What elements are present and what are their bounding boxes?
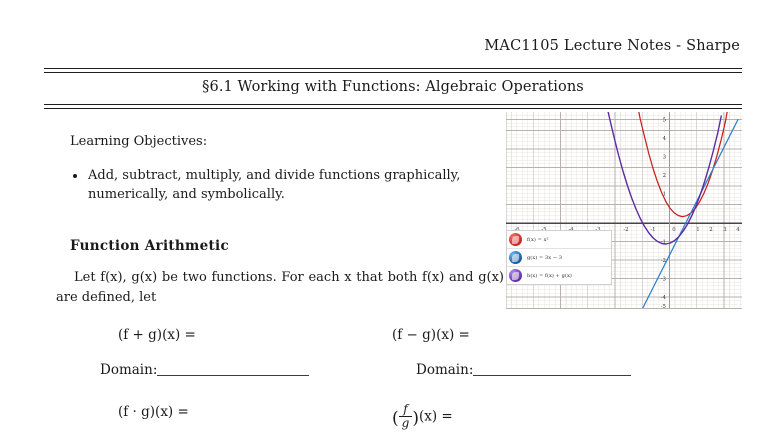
y-axis-tick-labels: 5 4 3 2 1 -1 -2 -3 -4 -5 [661,118,667,310]
svg-text:2: 2 [663,173,666,179]
quotient-numerator: f [399,403,413,417]
legend-item-h[interactable]: h(x) = f(x) + g(x) [507,267,611,284]
svg-text:4: 4 [663,136,667,142]
header-rule-top-outer [44,68,742,69]
domain-blank-right[interactable] [473,362,631,376]
definition-line-1: Let f(x), g(x) be two functions. For eac… [74,270,473,285]
legend-item-f[interactable]: f(x) = x² [507,231,611,249]
svg-text:-2: -2 [623,227,628,233]
page-title: §6.1 Working with Functions: Algebraic O… [44,79,742,95]
legend-label-g: g(x) = 3x − 3 [527,255,562,261]
svg-text:1: 1 [696,227,699,233]
graph-legend: f(x) = x² g(x) = 3x − 3 h(x) = f(x) + g(… [506,230,612,285]
domain-label-left: Domain: [100,362,157,378]
header-rule-top-inner [44,72,742,73]
objectives-block: Learning Objectives: Add, subtract, mult… [70,132,490,209]
domain-blank-left[interactable] [157,362,309,376]
quotient-open-paren: ( [392,409,399,429]
quotient-fraction: fg [399,403,413,429]
formula-product: (f · g)(x) = [118,404,189,420]
legend-label-f: f(x) = x² [527,237,549,243]
svg-text:2: 2 [709,227,712,233]
svg-text:0: 0 [672,227,676,233]
formula-sum: (f + g)(x) = [118,327,196,343]
definition-paragraph: Let f(x), g(x) be two functions. For eac… [56,268,504,308]
purple-sphere-icon [509,269,522,282]
objectives-list: Add, subtract, multiply, and divide func… [70,166,490,205]
svg-text:-1: -1 [650,227,655,233]
svg-text:3: 3 [663,155,667,161]
svg-text:5: 5 [663,118,667,124]
lecture-note-page: MAC1105 Lecture Notes - Sharpe §6.1 Work… [0,0,784,441]
list-item: Add, subtract, multiply, and divide func… [70,166,490,205]
objectives-heading: Learning Objectives: [70,132,490,152]
quotient-suffix: (x) = [419,409,453,425]
svg-text:-3: -3 [661,277,667,283]
function-graph-figure: -6 -5 -4 -3 -2 -1 0 1 2 3 4 5 4 3 2 1 -1… [506,112,742,309]
bullet-dot-icon [73,174,77,178]
formula-difference: (f − g)(x) = [392,327,470,343]
domain-field-right[interactable]: Domain: [416,362,631,378]
objective-text: Add, subtract, multiply, and divide func… [88,168,460,203]
svg-text:3: 3 [723,227,727,233]
quotient-denominator: g [399,417,413,430]
legend-label-h: h(x) = f(x) + g(x) [527,273,572,279]
domain-field-left[interactable]: Domain: [100,362,309,378]
legend-item-g[interactable]: g(x) = 3x − 3 [507,249,611,267]
domain-label-right: Domain: [416,362,473,378]
header-rule-bottom-inner [44,104,742,105]
svg-text:-4: -4 [661,295,667,301]
quotient-close-paren: ) [412,409,419,429]
running-header: MAC1105 Lecture Notes - Sharpe [0,38,740,54]
section-heading-function-arithmetic: Function Arithmetic [70,238,490,254]
svg-text:4: 4 [736,227,740,233]
formula-quotient: (fg)(x) = [392,404,453,430]
red-sphere-icon [509,233,522,246]
header-rule-bottom-outer [44,108,742,109]
blue-sphere-icon [509,251,522,264]
